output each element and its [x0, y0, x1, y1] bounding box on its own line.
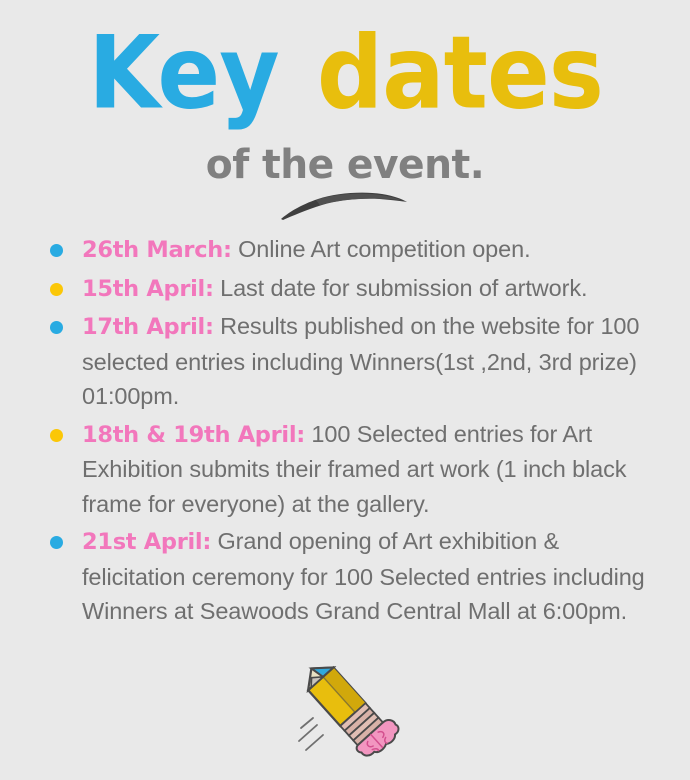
list-item: 26th March: Online Art competition open.: [44, 232, 650, 268]
bullet-dot-icon: [50, 244, 63, 257]
swoosh-icon: [278, 188, 410, 222]
bullet-dot-icon: [50, 321, 63, 334]
key-dates-list: 26th March: Online Art competition open.…: [44, 232, 650, 632]
heading-block: Key dates of the event.: [0, 36, 690, 188]
list-item: 17th April: Results published on the web…: [44, 309, 650, 414]
bullet-dot-icon: [50, 283, 63, 296]
list-item: 21st April: Grand opening of Art exhibit…: [44, 524, 650, 629]
bullet-dot-icon: [50, 429, 63, 442]
page-title: Key dates: [0, 36, 690, 122]
date-description: Last date for submission of artwork.: [220, 275, 587, 301]
page-title-word-dates: dates: [317, 26, 603, 122]
list-item: 15th April: Last date for submission of …: [44, 271, 650, 307]
brain-pencil-illustration: [292, 652, 402, 758]
date-label: 17th April:: [82, 314, 214, 340]
brush-swoosh-underline: [278, 188, 410, 222]
motion-lines-icon: [299, 718, 323, 750]
date-label: 18th & 19th April:: [82, 422, 305, 448]
list-item: 18th & 19th April: 100 Selected entries …: [44, 417, 650, 522]
date-description: Online Art competition open.: [238, 236, 530, 262]
key-dates-poster: Key dates of the event. 26th March: Onli…: [0, 0, 690, 780]
brain-pencil-icon: [292, 652, 402, 758]
page-title-word-key: Key: [88, 26, 278, 122]
bullet-dot-icon: [50, 536, 63, 549]
page-subtitle: of the event.: [7, 142, 683, 188]
date-label: 15th April:: [82, 276, 214, 302]
date-label: 26th March:: [82, 237, 232, 263]
date-label: 21st April:: [82, 529, 211, 555]
